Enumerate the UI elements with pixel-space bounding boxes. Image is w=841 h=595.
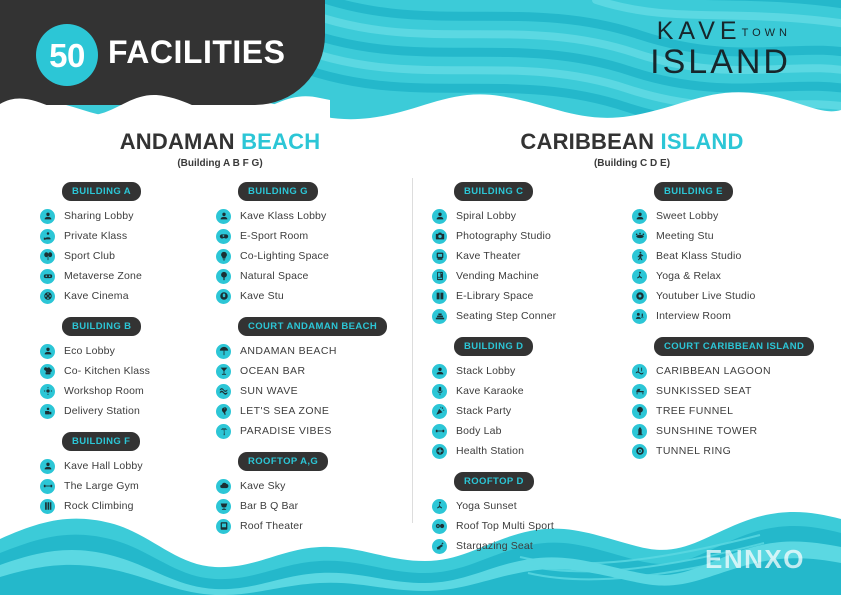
facility-item[interactable]: SUN WAVE [216,381,387,401]
facility-item-label: Yoga & Relax [656,270,721,282]
sun-lounger-icon [632,384,647,399]
group-badge[interactable]: BUILDING D [454,337,533,356]
lobby-sofa-icon [40,209,55,224]
facility-item[interactable]: Yoga Sunset [432,496,556,516]
facility-item-label: Sport Club [64,250,115,262]
tower-icon [632,424,647,439]
facility-item[interactable]: The Large Gym [40,476,150,496]
facility-item-label: Eco Lobby [64,345,115,357]
facility-item-label: Natural Space [240,270,309,282]
facility-section-1: ANDAMAN BEACH(Building A B F G)BUILDING … [40,130,400,181]
palm-tree-icon [216,424,231,439]
section-title-accent: BEACH [241,129,320,154]
facility-item[interactable]: Meeting Stu [632,226,814,246]
climbing-wall-icon [40,499,55,514]
star-telescope-icon [432,539,447,554]
vending-machine-icon [432,269,447,284]
watermark-logo: ENNXO [705,544,805,575]
tree-icon [632,404,647,419]
beach-umbrella-icon [216,344,231,359]
lagoon-pool-icon [632,364,647,379]
tools-gear-icon [40,384,55,399]
facility-count-value: 50 [49,39,85,72]
lobby-sofa-icon [40,344,55,359]
facility-group: BUILDING CSpiral LobbyPhotography Studio… [432,181,556,326]
facility-item-label: Body Lab [456,425,502,437]
tree-icon [216,269,231,284]
facility-item[interactable]: Sport Club [40,246,150,266]
section-title-accent: ISLAND [661,129,744,154]
facility-item[interactable]: Vending Machine [432,266,556,286]
facility-item[interactable]: Delivery Station [40,401,150,421]
facility-column-1: BUILDING ASharing LobbyPrivate KlassSpor… [40,181,150,526]
group-badge[interactable]: ROOFTOP A,G [238,452,328,471]
facility-item-label: Stack Party [456,405,511,417]
facility-item-label: Health Station [456,445,524,457]
facility-item[interactable]: Sharing Lobby [40,206,150,226]
page-title: FACILITIES [108,34,285,71]
facility-group: ROOFTOP DYoga SunsetRoof Top Multi Sport… [432,471,556,556]
brand-logo-line1: KAVETOWN [650,18,791,44]
facility-item[interactable]: PARADISE VIBES [216,421,387,441]
facility-group: COURT CARIBBEAN ISLANDCARIBBEAN LAGOONSU… [632,336,814,461]
delivery-box-icon [40,404,55,419]
section-title-main: ANDAMAN [120,129,235,154]
facility-item[interactable]: Sweet Lobby [632,206,814,226]
section-subtitle: (Building A B F G) [40,158,400,169]
facility-item[interactable]: Stargazing Seat [432,536,556,556]
facility-item-label: Co- Kitchen Klass [64,365,150,377]
facility-group: BUILDING ESweet LobbyMeeting StuBeat Kla… [632,181,814,326]
multi-sport-icon [432,519,447,534]
facility-item-label: PARADISE VIBES [240,425,332,437]
facility-item-label: CARIBBEAN LAGOON [656,365,771,377]
facility-item[interactable]: Stack Party [432,401,556,421]
facility-item[interactable]: Kave Hall Lobby [40,456,150,476]
facility-item[interactable]: Roof Theater [216,516,387,536]
facility-item[interactable]: Kave Karaoke [432,381,556,401]
camera-icon [432,229,447,244]
group-badge[interactable]: BUILDING C [454,182,533,201]
facility-count-badge: 50 [36,24,98,86]
section-subtitle: (Building C D E) [432,158,832,169]
facility-group: ROOFTOP A,GKave SkyBar B Q BarRoof Theat… [216,451,387,536]
brand-logo-line2: ISLAND [650,45,791,81]
yoga-pose-icon [632,269,647,284]
film-reel-icon [40,289,55,304]
gamepad-icon [216,229,231,244]
facility-item[interactable]: SUNSHINE TOWER [632,421,814,441]
facility-item[interactable]: Body Lab [432,421,556,441]
facility-item[interactable]: TUNNEL RING [632,441,814,461]
brand-logo: KAVETOWN ISLAND [650,18,791,81]
group-badge[interactable]: BUILDING B [62,317,141,336]
theater-seat-icon [432,249,447,264]
facility-item-label: Meeting Stu [656,230,714,242]
facility-item-label: OCEAN BAR [240,365,305,377]
facility-item-label: SUNSHINE TOWER [656,425,757,437]
facility-item-label: Youtuber Live Studio [656,290,756,302]
facility-item[interactable]: Bar B Q Bar [216,496,387,516]
facility-item-label: The Large Gym [64,480,139,492]
wave-icon [216,384,231,399]
column-divider [412,178,413,523]
facility-item-label: Kave Sky [240,480,286,492]
facility-item[interactable]: Kave Klass Lobby [216,206,387,226]
microphone-icon [432,384,447,399]
facility-item-label: SUNKISSED SEAT [656,385,752,397]
group-badge[interactable]: BUILDING F [62,432,140,451]
brand-town-text: TOWN [742,27,791,39]
facility-column-1: BUILDING CSpiral LobbyPhotography Studio… [432,181,556,566]
facility-item-label: Sharing Lobby [64,210,134,222]
facility-item-label: Kave Cinema [64,290,129,302]
facility-item[interactable]: Youtuber Live Studio [632,286,814,306]
facility-item[interactable]: Health Station [432,441,556,461]
section-title-main: CARIBBEAN [520,129,654,154]
facility-item-label: Workshop Room [64,385,144,397]
studio-icon [216,289,231,304]
facility-item-label: Roof Theater [240,520,303,532]
facility-item[interactable]: CARIBBEAN LAGOON [632,361,814,381]
facility-item[interactable]: Beat Klass Studio [632,246,814,266]
facilities-poster: 50 FACILITIES KAVETOWN ISLAND ANDAMAN BE… [0,0,841,595]
lobby-sofa-icon [432,364,447,379]
facility-item[interactable]: Co-Lighting Space [216,246,387,266]
facility-item[interactable]: E-Library Space [432,286,556,306]
group-badge[interactable]: ROOFTOP D [454,472,534,491]
dumbbell-icon [432,424,447,439]
book-icon [432,289,447,304]
vr-headset-icon [40,269,55,284]
facility-item[interactable]: Kave Cinema [40,286,150,306]
theater-screen-icon [216,519,231,534]
facility-item[interactable]: ANDAMAN BEACH [216,341,387,361]
facility-item-label: Vending Machine [456,270,539,282]
party-icon [432,404,447,419]
facility-item[interactable]: Metaverse Zone [40,266,150,286]
group-badge[interactable]: COURT CARIBBEAN ISLAND [654,337,814,356]
lightbulb-icon [216,249,231,264]
facility-item[interactable]: Seating Step Conner [432,306,556,326]
facility-item-label: Stack Lobby [456,365,515,377]
facility-item-label: Kave Theater [456,250,521,262]
private-class-icon [40,229,55,244]
lobby-sofa-icon [632,209,647,224]
facility-group: COURT ANDAMAN BEACHANDAMAN BEACHOCEAN BA… [216,316,387,441]
facility-item-label: SUN WAVE [240,385,298,397]
facility-item[interactable]: Private Klass [40,226,150,246]
seahorse-icon [216,404,231,419]
facility-item-label: Photography Studio [456,230,551,242]
facility-item[interactable]: OCEAN BAR [216,361,387,381]
facility-group: BUILDING BEco LobbyCo- Kitchen KlassWork… [40,316,150,421]
facility-item-label: Kave Stu [240,290,284,302]
lobby-sofa-icon [216,209,231,224]
facility-item-label: E-Library Space [456,290,534,302]
facility-group: BUILDING ASharing LobbyPrivate KlassSpor… [40,181,150,306]
group-badge[interactable]: BUILDING E [654,182,733,201]
lobby-sofa-icon [432,209,447,224]
facility-item[interactable]: Eco Lobby [40,341,150,361]
facility-item-label: Kave Karaoke [456,385,524,397]
facility-item-label: Spiral Lobby [456,210,516,222]
live-record-icon [632,289,647,304]
facility-item-label: Metaverse Zone [64,270,142,282]
facility-item-label: Yoga Sunset [456,500,517,512]
facility-group: BUILDING DStack LobbyKave KaraokeStack P… [432,336,556,461]
facility-item[interactable]: Kave Theater [432,246,556,266]
facility-item[interactable]: E-Sport Room [216,226,387,246]
lobby-sofa-icon [40,459,55,474]
facility-item[interactable]: Roof Top Multi Sport [432,516,556,536]
group-badge[interactable]: COURT ANDAMAN BEACH [238,317,387,336]
bbq-grill-icon [216,499,231,514]
health-cross-icon [432,444,447,459]
facility-item[interactable]: LET'S SEA ZONE [216,401,387,421]
facility-column-2: BUILDING GKave Klass LobbyE-Sport RoomCo… [216,181,387,546]
facility-item-label: TUNNEL RING [656,445,731,457]
sport-racket-icon [40,249,55,264]
facility-item-label: Co-Lighting Space [240,250,329,262]
facility-item[interactable]: Interview Room [632,306,814,326]
facility-item-label: Delivery Station [64,405,140,417]
facility-item[interactable]: Workshop Room [40,381,150,401]
facility-item-label: Seating Step Conner [456,310,556,322]
facility-item[interactable]: TREE FUNNEL [632,401,814,421]
facility-item-label: LET'S SEA ZONE [240,405,329,417]
facility-item[interactable]: SUNKISSED SEAT [632,381,814,401]
chef-hat-icon [40,364,55,379]
facility-item[interactable]: Kave Sky [216,476,387,496]
facility-group: BUILDING GKave Klass LobbyE-Sport RoomCo… [216,181,387,306]
yoga-pose-icon [432,499,447,514]
facility-item-label: Sweet Lobby [656,210,718,222]
facility-item[interactable]: Spiral Lobby [432,206,556,226]
facility-item-label: Beat Klass Studio [656,250,741,262]
facility-column-2: BUILDING ESweet LobbyMeeting StuBeat Kla… [632,181,814,471]
dumbbell-icon [40,479,55,494]
meeting-table-icon [632,229,647,244]
group-badge[interactable]: BUILDING G [238,182,318,201]
facility-item-label: Interview Room [656,310,731,322]
group-badge[interactable]: BUILDING A [62,182,141,201]
ring-tunnel-icon [632,444,647,459]
section-title: CARIBBEAN ISLAND [432,130,832,154]
facility-item[interactable]: Co- Kitchen Klass [40,361,150,381]
facility-item-label: Roof Top Multi Sport [456,520,554,532]
cloud-sky-icon [216,479,231,494]
facility-item[interactable]: Kave Stu [216,286,387,306]
facility-item-label: Stargazing Seat [456,540,533,552]
facility-item[interactable]: Rock Climbing [40,496,150,516]
steps-seating-icon [432,309,447,324]
section-title: ANDAMAN BEACH [40,130,400,154]
facility-item[interactable]: Natural Space [216,266,387,286]
facility-item[interactable]: Yoga & Relax [632,266,814,286]
facility-item-label: TREE FUNNEL [656,405,733,417]
facilities-content: ANDAMAN BEACH(Building A B F G)BUILDING … [0,130,841,530]
facility-item-label: E-Sport Room [240,230,308,242]
facility-item-label: Kave Klass Lobby [240,210,326,222]
facility-item-label: ANDAMAN BEACH [240,345,337,357]
facility-item[interactable]: Stack Lobby [432,361,556,381]
facility-item-label: Bar B Q Bar [240,500,298,512]
brand-kave-text: KAVE [657,17,742,45]
facility-item-label: Rock Climbing [64,500,134,512]
bar-drink-icon [216,364,231,379]
facility-section-2: CARIBBEAN ISLAND(Building C D E)BUILDING… [432,130,832,181]
facility-item[interactable]: Photography Studio [432,226,556,246]
facility-item-label: Private Klass [64,230,127,242]
interview-mic-icon [632,309,647,324]
facility-item-label: Kave Hall Lobby [64,460,143,472]
dance-icon [632,249,647,264]
facility-group: BUILDING FKave Hall LobbyThe Large GymRo… [40,431,150,516]
